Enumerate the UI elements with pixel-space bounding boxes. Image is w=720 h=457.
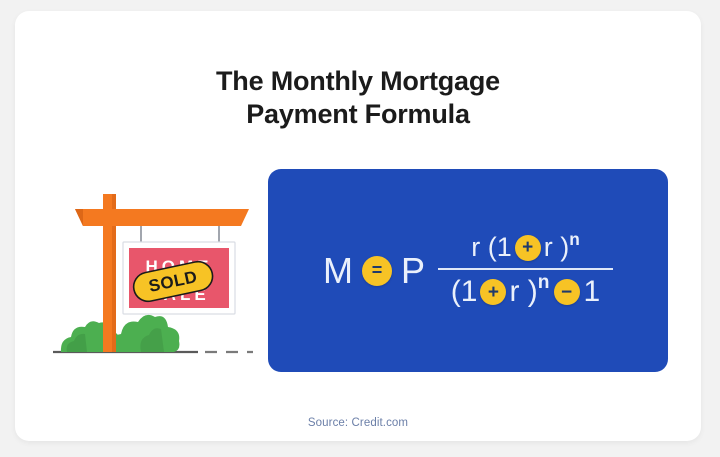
numerator-part-1: r (1 (471, 234, 512, 261)
sign-crossbar (75, 209, 249, 226)
denominator-minus-operator-chip: − (554, 279, 580, 305)
mortgage-payment-formula: M = P r (1 + r ) n (1 + r ) (268, 169, 668, 372)
formula-left-hand-side: M = P (323, 250, 425, 292)
denominator-part-3: 1 (584, 277, 601, 307)
numerator-part-2: r ) (544, 234, 569, 261)
equals-operator-chip: = (362, 256, 392, 286)
page-title-line-1: The Monthly Mortgage (15, 65, 701, 98)
denominator-part-2: r ) (509, 277, 537, 307)
formula-numerator: r (1 + r ) n (471, 230, 580, 265)
sign-crossbar-left-bevel (75, 209, 83, 226)
source-attribution: Source: Credit.com (15, 417, 701, 429)
formula-denominator: (1 + r ) n − 1 (451, 273, 600, 311)
formula-fraction: r (1 + r ) n (1 + r ) n − 1 (438, 230, 613, 311)
content-card: The Monthly Mortgage Payment Formula (15, 11, 701, 441)
bush-right-icon (109, 315, 180, 352)
home-for-sale-sign-illustration: HOME SALE SOLD (53, 186, 273, 366)
denominator-plus-operator-chip: + (480, 279, 506, 305)
page-title-line-2: Payment Formula (15, 98, 701, 131)
formula-variable-p: P (401, 250, 425, 292)
denominator-exponent: n (538, 273, 550, 292)
infographic-canvas: The Monthly Mortgage Payment Formula (0, 0, 720, 457)
page-title: The Monthly Mortgage Payment Formula (15, 65, 701, 131)
sign-post-notch-shade (112, 226, 116, 235)
formula-variable-m: M (323, 250, 353, 292)
numerator-plus-operator-chip: + (515, 235, 541, 261)
numerator-exponent: n (569, 231, 580, 248)
denominator-part-1: (1 (451, 277, 478, 307)
fraction-bar (438, 268, 613, 270)
formula-panel: M = P r (1 + r ) n (1 + r ) (268, 169, 668, 372)
